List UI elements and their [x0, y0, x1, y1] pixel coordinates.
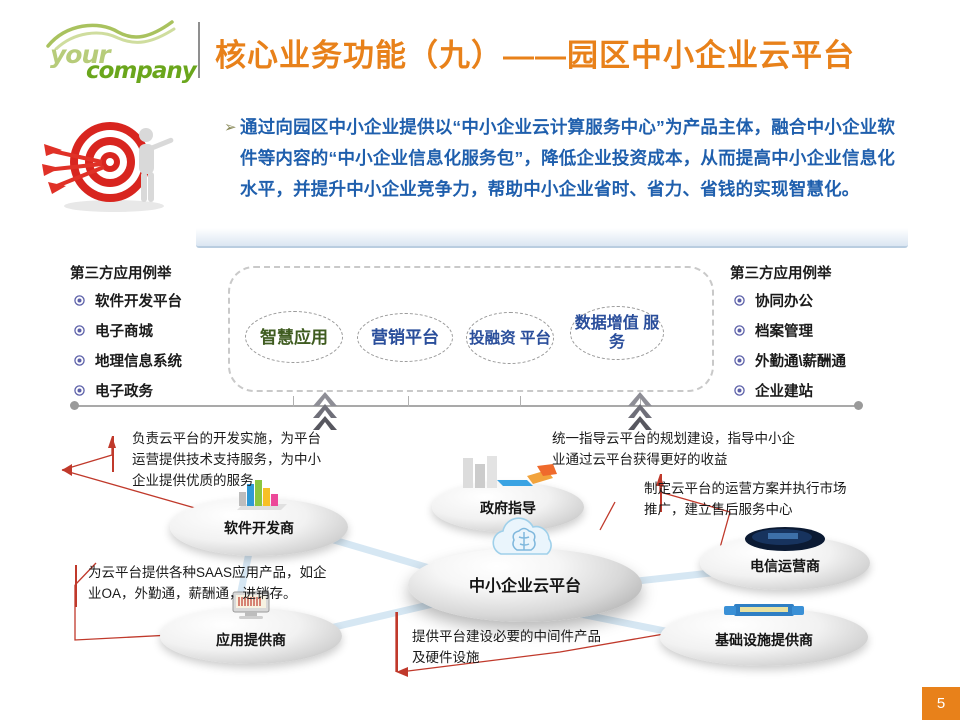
node-application-provider[interactable]: 应用提供商: [160, 608, 342, 664]
annot-app-provider: 为云平台提供各种SAAS应用产品，如企 业OA，外勤通，薪酬通，进销存。: [88, 562, 408, 604]
annot-government: 统一指导云平台的规划建设，指导中小企 业通过云平台获得更好的收益: [552, 428, 882, 470]
list-item[interactable]: 软件开发平台: [70, 290, 240, 311]
annot-software-developer: 负责云平台的开发实施，为平台 运营提供技术支持服务，为中小 企业提供优质的服务: [132, 428, 392, 491]
left-third-party-list: 第三方应用例举 软件开发平台 电子商城 地理信息系统 电子政务: [70, 262, 240, 410]
annot-telecom: 制定云平台的运营方案并执行市场 推广，建立售后服务中心: [644, 478, 954, 520]
bubble-investment-platform[interactable]: 投融资 平台: [466, 312, 554, 364]
list-item[interactable]: 电子政务: [70, 380, 240, 401]
list-item[interactable]: 地理信息系统: [70, 350, 240, 371]
right-list-heading: 第三方应用例举: [730, 262, 930, 283]
network-switch-icon: [718, 594, 810, 624]
dartboard-target-illustration: [42, 112, 202, 216]
node-label: 政府指导: [432, 498, 584, 518]
spiral-bullet-icon: [734, 295, 745, 306]
list-item-label: 地理信息系统: [95, 350, 182, 371]
list-item-label: 企业建站: [755, 380, 813, 401]
company-logo: your company: [38, 18, 188, 80]
list-item[interactable]: 协同办公: [730, 290, 930, 311]
chevron-up-icon: [628, 392, 652, 430]
list-item[interactable]: 档案管理: [730, 320, 930, 341]
right-third-party-list: 第三方应用例举 协同办公 档案管理 外勤通\薪酬通 企业建站: [730, 262, 930, 410]
list-item-label: 电子商城: [95, 320, 153, 341]
axis-tick: [293, 396, 294, 407]
annotation-leader-bar: [112, 436, 114, 472]
left-list-heading: 第三方应用例举: [70, 262, 240, 283]
list-item-label: 外勤通\薪酬通: [755, 350, 846, 371]
axis-tick: [408, 396, 409, 407]
axis-end-dot-right: [854, 401, 863, 410]
spiral-bullet-icon: [734, 355, 745, 366]
arrow-bullet-icon: ➢: [224, 118, 237, 136]
node-label: 应用提供商: [160, 630, 342, 650]
node-label: 电信运营商: [700, 556, 870, 576]
chevron-up-icon: [313, 392, 337, 430]
list-item[interactable]: 外勤通\薪酬通: [730, 350, 930, 371]
spiral-bullet-icon: [734, 385, 745, 396]
city-buildings-icon: [453, 454, 563, 496]
page-title: 核心业务功能（九）——园区中小企业云平台: [215, 30, 855, 75]
timeline-axis: [74, 405, 858, 407]
annotation-leader-bar: [396, 612, 398, 672]
list-item-label: 电子政务: [95, 380, 153, 401]
bubble-marketing-platform[interactable]: 营销平台: [357, 313, 453, 362]
list-item[interactable]: 电子商城: [70, 320, 240, 341]
bubble-smart-application[interactable]: 智慧应用: [245, 311, 343, 363]
spiral-bullet-icon: [74, 295, 85, 306]
node-label: 中小企业云平台: [408, 572, 642, 596]
cloud-brain-icon: [477, 516, 573, 564]
annotation-leader-bar: [75, 565, 77, 607]
list-item-label: 协同办公: [755, 290, 813, 311]
telecom-device-icon: [740, 524, 830, 554]
list-item[interactable]: 企业建站: [730, 380, 930, 401]
logo-text-company: company: [86, 58, 196, 84]
node-telecom-operator[interactable]: 电信运营商: [700, 536, 870, 590]
description-text: 通过向园区中小企业提供以“中小企业云计算服务中心”为产品主体，融合中小企业软件等…: [240, 112, 900, 205]
spiral-bullet-icon: [74, 355, 85, 366]
spiral-bullet-icon: [74, 325, 85, 336]
spiral-bullet-icon: [734, 325, 745, 336]
list-item-label: 档案管理: [755, 320, 813, 341]
slide-root: your company 核心业务功能（九）——园区中小企业云平台 ➢ 通过向园…: [0, 0, 960, 720]
spiral-bullet-icon: [74, 385, 85, 396]
node-label: 基础设施提供商: [660, 630, 868, 650]
axis-end-dot-left: [70, 401, 79, 410]
axis-tick: [520, 396, 521, 407]
title-separator: [198, 22, 200, 78]
annot-infrastructure: 提供平台建设必要的中间件产品 及硬件设施: [412, 626, 682, 668]
bubble-data-value-service[interactable]: 数据增值 服务: [570, 306, 664, 360]
node-sme-cloud-platform[interactable]: 中小企业云平台: [408, 548, 642, 622]
node-infrastructure-provider[interactable]: 基础设施提供商: [660, 608, 868, 666]
node-software-developer[interactable]: 软件开发商: [170, 498, 348, 556]
page-number-badge: 5: [922, 687, 960, 720]
node-label: 软件开发商: [170, 518, 348, 538]
list-item-label: 软件开发平台: [95, 290, 182, 311]
